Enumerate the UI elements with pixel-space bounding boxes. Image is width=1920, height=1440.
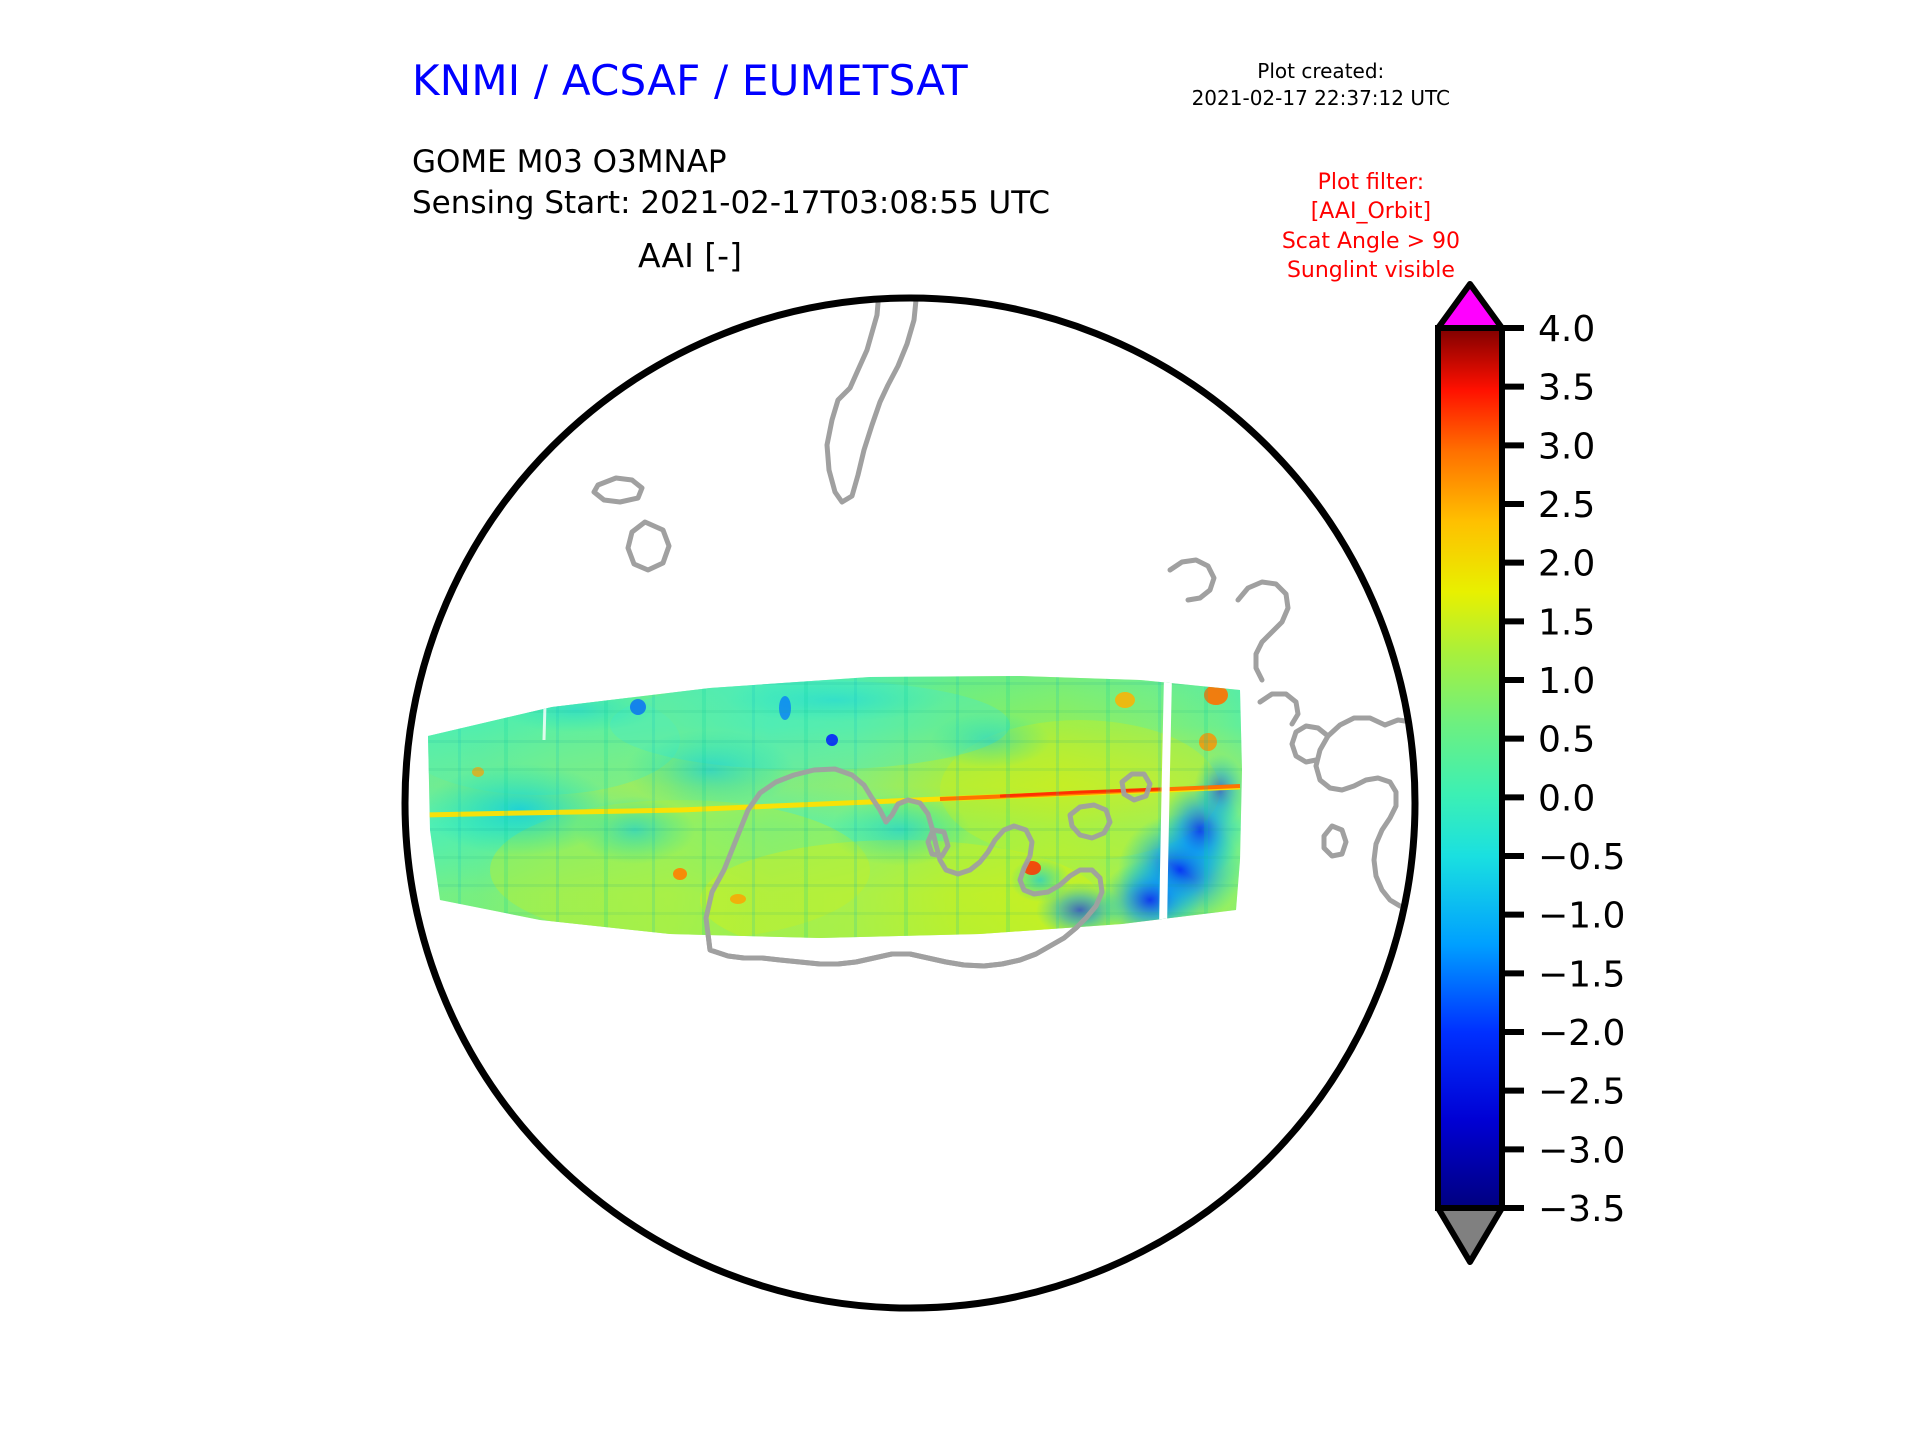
colorbar-tick-label: −3.0: [1538, 1130, 1625, 1171]
dataset-block: GOME M03 O3MNAP Sensing Start: 2021-02-1…: [412, 142, 1050, 224]
plot-filter-scat-angle: Scat Angle > 90: [1282, 227, 1460, 256]
colorbar-tick-label: 1.5: [1538, 602, 1595, 643]
map-panel: [380, 270, 1440, 1340]
plot-canvas: KNMI / ACSAF / EUMETSAT Plot created: 20…: [0, 0, 1920, 1440]
organizations-title: KNMI / ACSAF / EUMETSAT: [412, 56, 968, 105]
plot-created-time: 2021-02-17 22:37:12 UTC: [1192, 85, 1450, 112]
swath-data-gap: [1163, 675, 1168, 930]
colorbar-tick-label: 1.0: [1538, 661, 1595, 702]
colorbar-tick-label: 0.0: [1538, 778, 1595, 819]
colorbar-panel: 4.03.53.02.52.01.51.00.50.0−0.5−1.0−1.5−…: [1424, 280, 1844, 1310]
colorbar-tick-label: 4.0: [1538, 309, 1595, 350]
colorbar-tick-label: −2.0: [1538, 1013, 1625, 1054]
colorbar-tick-label: −2.5: [1538, 1072, 1625, 1113]
colorbar-tick-label: 3.0: [1538, 426, 1595, 467]
colorbar-tick-label: −1.0: [1538, 896, 1625, 937]
colorbar-under-arrow: [1438, 1208, 1502, 1262]
dataset-name: GOME M03 O3MNAP: [412, 142, 1050, 183]
colorbar-tick-label: 0.5: [1538, 720, 1595, 761]
colorbar-tick-label: −3.5: [1538, 1189, 1625, 1230]
colorbar-tick-label: 2.0: [1538, 544, 1595, 585]
colorbar: 4.03.53.02.52.01.51.00.50.0−0.5−1.0−1.5−…: [1424, 280, 1844, 1310]
colorbar-tick-label: −0.5: [1538, 837, 1625, 878]
plot-filter-variable: [AAI_Orbit]: [1282, 197, 1460, 226]
plot-filter-block: Plot filter: [AAI_Orbit] Scat Angle > 90…: [1282, 168, 1460, 285]
colorbar-tick-label: 3.5: [1538, 368, 1595, 409]
plot-created-label: Plot created:: [1192, 58, 1450, 85]
orthographic-globe: [380, 270, 1440, 1340]
colorbar-gradient: [1438, 328, 1502, 1208]
colorbar-tick-label: 2.5: [1538, 485, 1595, 526]
colorbar-tick-label: −1.5: [1538, 954, 1625, 995]
colorbar-ticks: 4.03.53.02.52.01.51.00.50.0−0.5−1.0−1.5−…: [1502, 309, 1625, 1230]
plot-created-block: Plot created: 2021-02-17 22:37:12 UTC: [1192, 58, 1450, 112]
sensing-start: Sensing Start: 2021-02-17T03:08:55 UTC: [412, 183, 1050, 224]
plot-filter-label: Plot filter:: [1282, 168, 1460, 197]
colorbar-over-arrow: [1438, 284, 1502, 328]
